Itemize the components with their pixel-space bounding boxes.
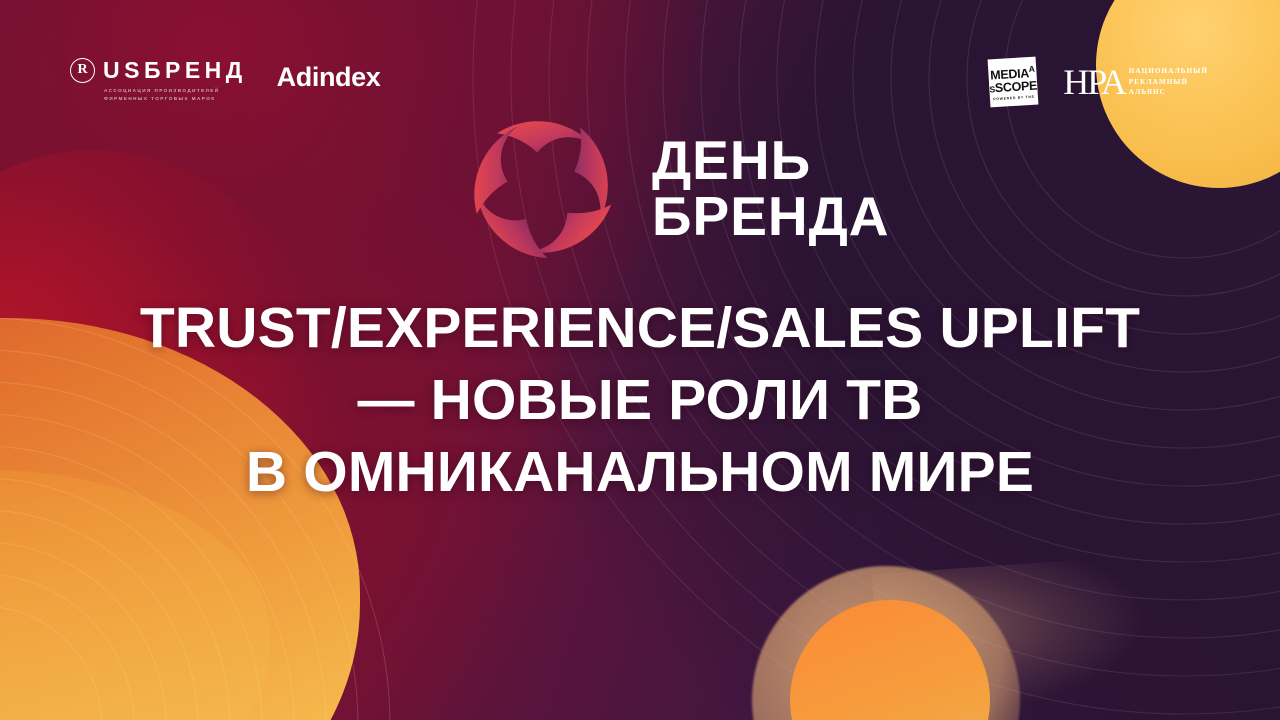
nra-line3: АЛЬЯНС bbox=[1129, 87, 1208, 98]
partner-logos-right: MEDIAA SSCOPE POWERED BY TNS НРА НАЦИОНА… bbox=[989, 58, 1208, 106]
event-logo-line2: БРЕНДА bbox=[652, 188, 890, 244]
nra-logo[interactable]: НРА НАЦИОНАЛЬНЫЙ РЕКЛАМНЫЙ АЛЬЯНС bbox=[1063, 64, 1208, 100]
adindex-logo[interactable]: Adindex bbox=[277, 62, 381, 93]
presentation-slide: R USБРЕНД АССОЦИАЦИЯ ПРОИЗВОДИТЕЛЕЙ ФИРМ… bbox=[0, 0, 1280, 720]
petal-ring-icon bbox=[455, 100, 630, 275]
mediascope-line2-text: SCOPE bbox=[995, 78, 1038, 95]
mediascope-tagline: POWERED BY TNS bbox=[993, 94, 1035, 101]
event-logo-wordmark: ДЕНЬ БРЕНДА bbox=[652, 132, 890, 244]
mediascope-line2: SSCOPE bbox=[989, 79, 1037, 95]
event-logo-line1: ДЕНЬ bbox=[652, 132, 890, 188]
slide-title-line3: В ОМНИКАНАЛЬНОМ МИРЕ bbox=[0, 436, 1280, 508]
slide-title-line1: TRUST/EXPERIENCE/SALES UPLIFT bbox=[0, 292, 1280, 364]
nra-fullname: НАЦИОНАЛЬНЫЙ РЕКЛАМНЫЙ АЛЬЯНС bbox=[1129, 66, 1208, 98]
nra-line2: РЕКЛАМНЫЙ bbox=[1129, 77, 1208, 88]
mediascope-line1-sup: A bbox=[1029, 64, 1035, 74]
rusbrand-subtitle-line2: ФИРМЕННЫХ ТОРГОВЫХ МАРОК bbox=[104, 95, 247, 102]
mediascope-logo[interactable]: MEDIAA SSCOPE POWERED BY TNS bbox=[988, 57, 1039, 108]
registered-r-icon: R bbox=[70, 58, 95, 83]
rusbrand-name: USБРЕНД bbox=[103, 58, 247, 83]
slide-title-line2: — НОВЫЕ РОЛИ ТВ bbox=[0, 364, 1280, 436]
nra-line1: НАЦИОНАЛЬНЫЙ bbox=[1129, 66, 1208, 77]
slide-title: TRUST/EXPERIENCE/SALES UPLIFT — НОВЫЕ РО… bbox=[0, 292, 1280, 508]
event-logo: ДЕНЬ БРЕНДА bbox=[455, 100, 890, 275]
rusbrand-logo[interactable]: R USБРЕНД АССОЦИАЦИЯ ПРОИЗВОДИТЕЛЕЙ ФИРМ… bbox=[70, 58, 247, 102]
partner-logos-left: R USБРЕНД АССОЦИАЦИЯ ПРОИЗВОДИТЕЛЕЙ ФИРМ… bbox=[70, 58, 380, 102]
rusbrand-subtitle-line1: АССОЦИАЦИЯ ПРОИЗВОДИТЕЛЕЙ bbox=[104, 87, 247, 94]
rusbrand-wordmark: R USБРЕНД bbox=[70, 58, 247, 83]
nra-wordmark: НРА bbox=[1063, 64, 1124, 100]
